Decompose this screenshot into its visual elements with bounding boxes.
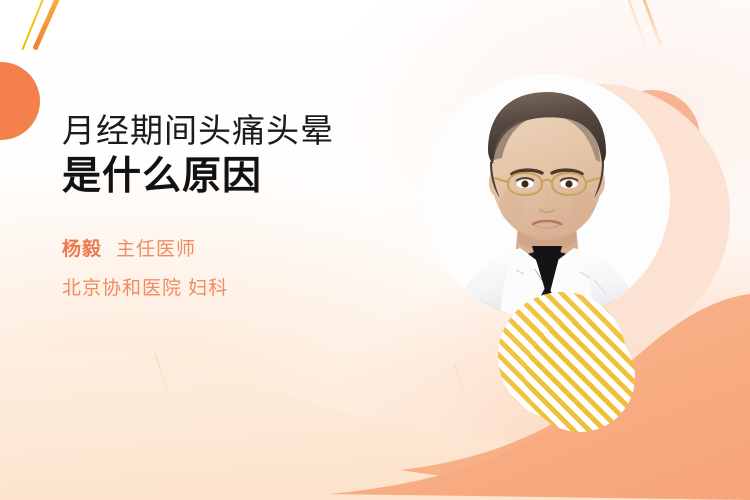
doctor-line: 杨毅主任医师: [62, 234, 442, 261]
doctor-name: 杨毅: [62, 239, 102, 260]
doctor-portrait: [424, 74, 670, 320]
doctor-affiliation: 北京协和医院 妇科: [62, 273, 442, 300]
video-thumbnail-card: 月经期间头痛头晕 是什么原因 杨毅主任医师 北京协和医院 妇科: [0, 0, 750, 500]
yellow-striped-disc-lower: [525, 322, 635, 432]
title-line-1: 月经期间头痛头晕: [62, 112, 442, 150]
doctor-rank: 主任医师: [116, 239, 196, 260]
title-line-2: 是什么原因: [62, 154, 442, 200]
text-block: 月经期间头痛头晕 是什么原因 杨毅主任医师 北京协和医院 妇科: [62, 112, 442, 300]
